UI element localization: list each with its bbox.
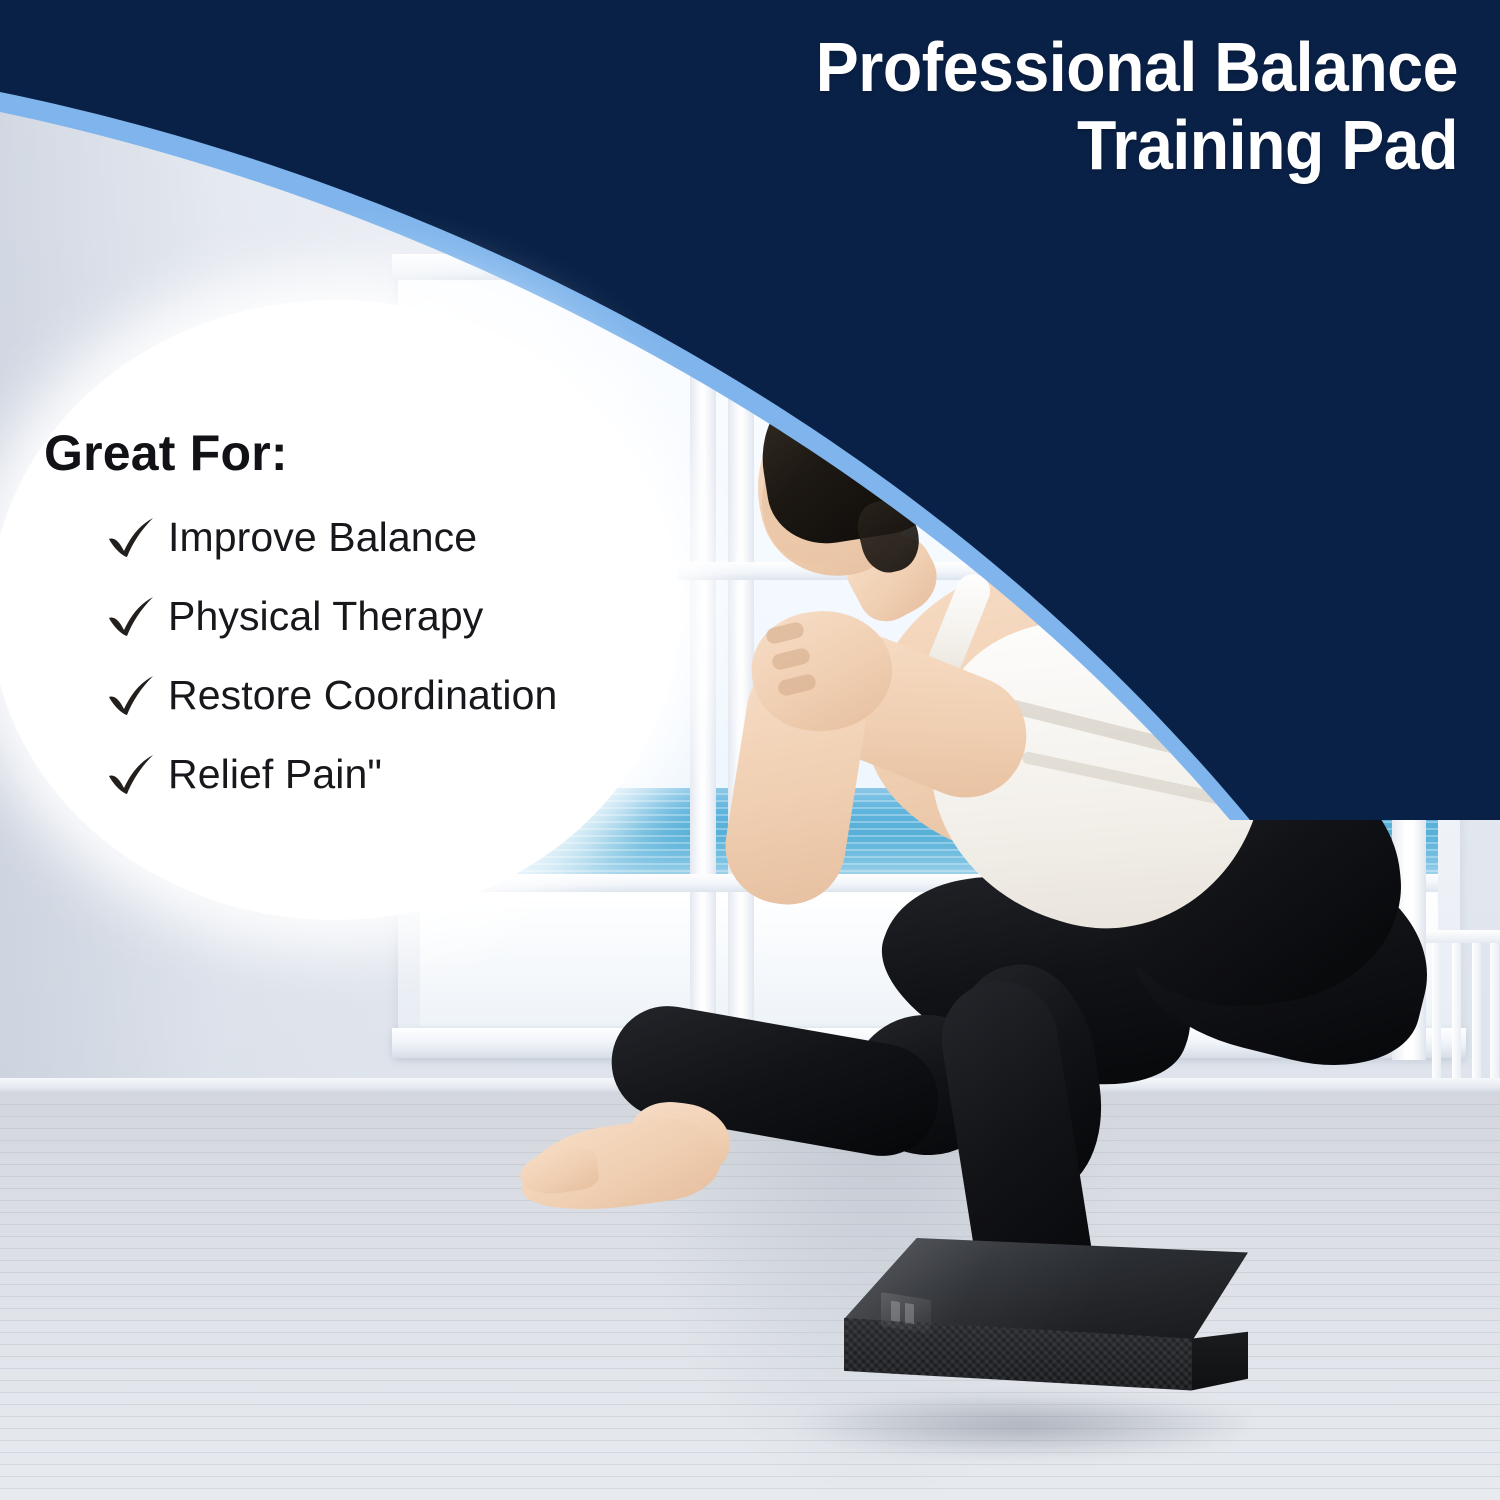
list-item: Improve Balance: [104, 500, 664, 575]
page-title: Professional Balance Training Pad: [483, 28, 1458, 185]
check-icon: [104, 591, 156, 643]
railing-slat: [1452, 943, 1461, 1090]
check-icon: [104, 749, 156, 801]
list-item-label: Restore Coordination: [168, 672, 557, 719]
railing-slat: [1490, 943, 1499, 1090]
callout-heading: Great For:: [44, 424, 288, 482]
list-item-label: Improve Balance: [168, 514, 477, 561]
check-icon: [104, 670, 156, 722]
balcony-railing: [1426, 930, 1500, 1090]
check-icon: [104, 512, 156, 564]
window-head: [392, 254, 1466, 280]
list-item-label: Relief Pain": [168, 751, 382, 798]
railing-slat: [1432, 943, 1441, 1090]
list-item: Relief Pain": [104, 737, 664, 812]
benefits-list: Improve Balance Physical Therapy Restore…: [104, 500, 664, 816]
title-line-2: Training Pad: [483, 106, 1458, 184]
railing-slat: [1472, 943, 1481, 1090]
balance-pad-product: [818, 1238, 1274, 1440]
list-item: Physical Therapy: [104, 579, 664, 654]
title-line-1: Professional Balance: [483, 28, 1458, 106]
railing-top: [1426, 930, 1500, 943]
hair-bun-highlight: [852, 335, 904, 379]
product-poster: Professional Balance Training Pad Great …: [0, 0, 1500, 1500]
list-item-label: Physical Therapy: [168, 593, 483, 640]
list-item: Restore Coordination: [104, 658, 664, 733]
